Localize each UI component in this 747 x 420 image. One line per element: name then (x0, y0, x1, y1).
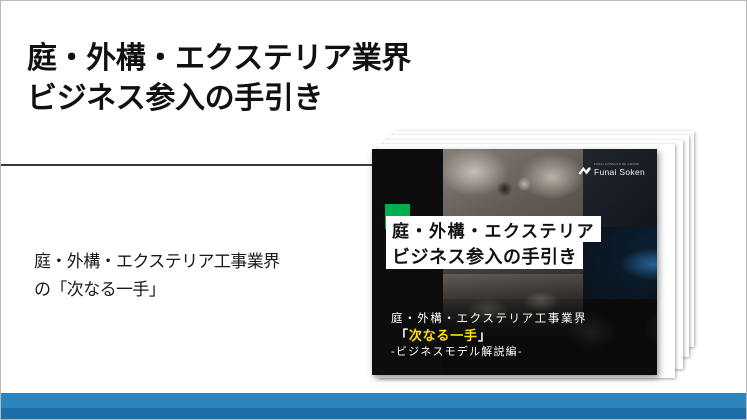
funai-logo-mark-icon (578, 165, 591, 176)
cover-title-line-2: ビジネス参入の手引き (386, 242, 583, 269)
title-line-2: ビジネス参入の手引き (27, 79, 547, 119)
cover-title-line-1: 庭・外構・エクステリア (386, 216, 601, 242)
bottom-bar-light-band (1, 393, 746, 408)
quote-close: 」 (478, 328, 492, 343)
subtitle: 庭・外構・エクステリア工事業界 の「次なる一手」 (34, 248, 364, 303)
cover-footer-highlight: 次なる一手 (409, 328, 478, 343)
logo-name: Funai Soken (594, 168, 645, 177)
funai-soken-logo: FUNAI CONSULTING GROUP Funai Soken (578, 164, 645, 176)
cover-footer-line-1: 庭・外構・エクステリア工事業界 (391, 311, 587, 327)
booklet-mockup: 庭・外構・エクステリア ビジネス参入の手引き FUNAI CONSULTING … (372, 131, 732, 381)
quote-open: 「 (395, 328, 409, 343)
logo-text: FUNAI CONSULTING GROUP Funai Soken (594, 164, 645, 176)
cover-footer-line-3: -ビジネスモデル解説編- (391, 345, 587, 361)
subtitle-line-2: の「次なる一手」 (34, 276, 364, 304)
cover-footer-line-2: 「次なる一手」 (395, 327, 587, 345)
title-line-1: 庭・外構・エクステリア業界 (27, 39, 547, 79)
subtitle-line-1: 庭・外構・エクステリア工事業界 (34, 248, 364, 276)
page-title: 庭・外構・エクステリア業界 ビジネス参入の手引き (27, 39, 547, 119)
booklet-cover: 庭・外構・エクステリア ビジネス参入の手引き FUNAI CONSULTING … (372, 149, 657, 375)
bottom-bar-dark-band (1, 408, 746, 419)
title-divider (1, 164, 373, 166)
cover-footer: 庭・外構・エクステリア工事業界 「次なる一手」 -ビジネスモデル解説編- (391, 311, 587, 361)
bottom-accent-bar (1, 393, 746, 419)
slide-canvas: 庭・外構・エクステリア業界 ビジネス参入の手引き 庭・外構・エクステリア工事業界… (0, 0, 747, 420)
